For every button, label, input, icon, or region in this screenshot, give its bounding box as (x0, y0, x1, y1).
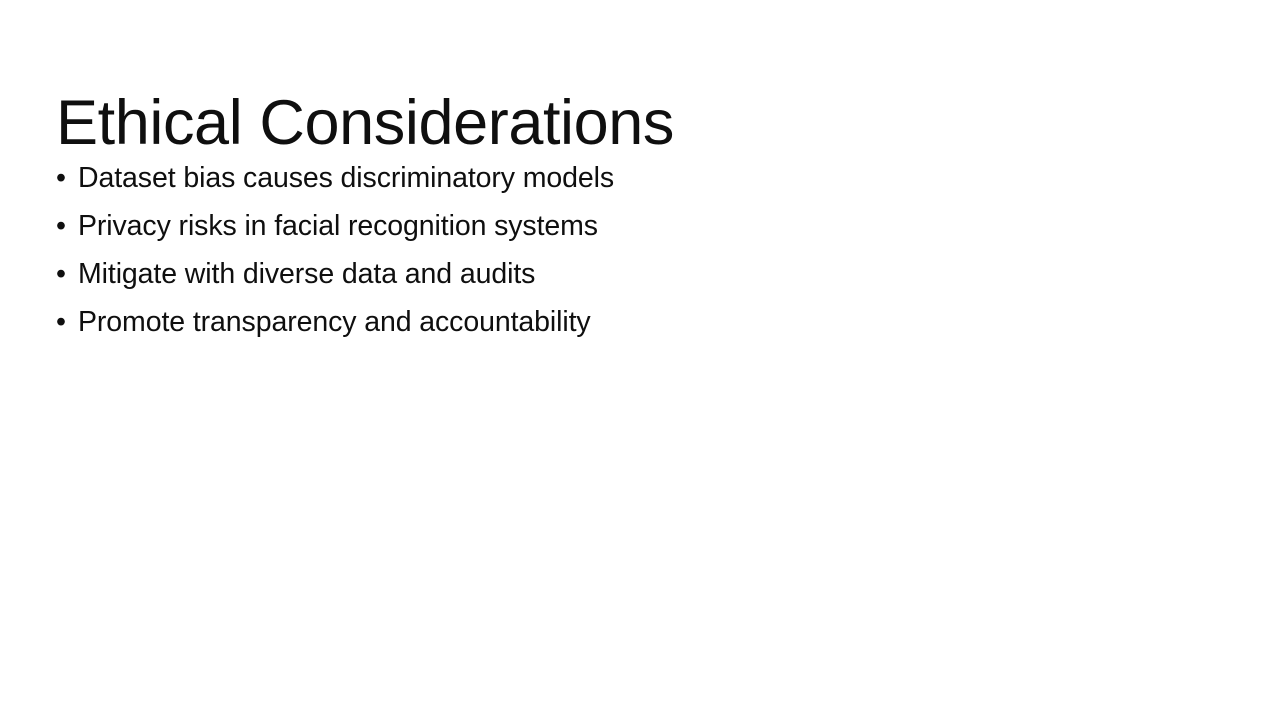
list-item: • Privacy risks in facial recognition sy… (56, 202, 956, 250)
page-title: Ethical Considerations (56, 92, 674, 155)
list-item-label: Dataset bias causes discriminatory model… (78, 154, 614, 202)
list-item: • Mitigate with diverse data and audits (56, 250, 956, 298)
list-item: • Promote transparency and accountabilit… (56, 298, 956, 346)
bullet-point-icon: • (56, 250, 78, 298)
list-item: • Dataset bias causes discriminatory mod… (56, 154, 956, 202)
list-item-label: Mitigate with diverse data and audits (78, 250, 535, 298)
bullet-point-icon: • (56, 298, 78, 346)
slide-canvas: Ethical Considerations • Dataset bias ca… (0, 0, 1280, 720)
bullet-point-icon: • (56, 202, 78, 250)
list-item-label: Promote transparency and accountability (78, 298, 591, 346)
list-item-label: Privacy risks in facial recognition syst… (78, 202, 598, 250)
bullet-point-icon: • (56, 154, 78, 202)
bullet-list: • Dataset bias causes discriminatory mod… (56, 154, 956, 346)
